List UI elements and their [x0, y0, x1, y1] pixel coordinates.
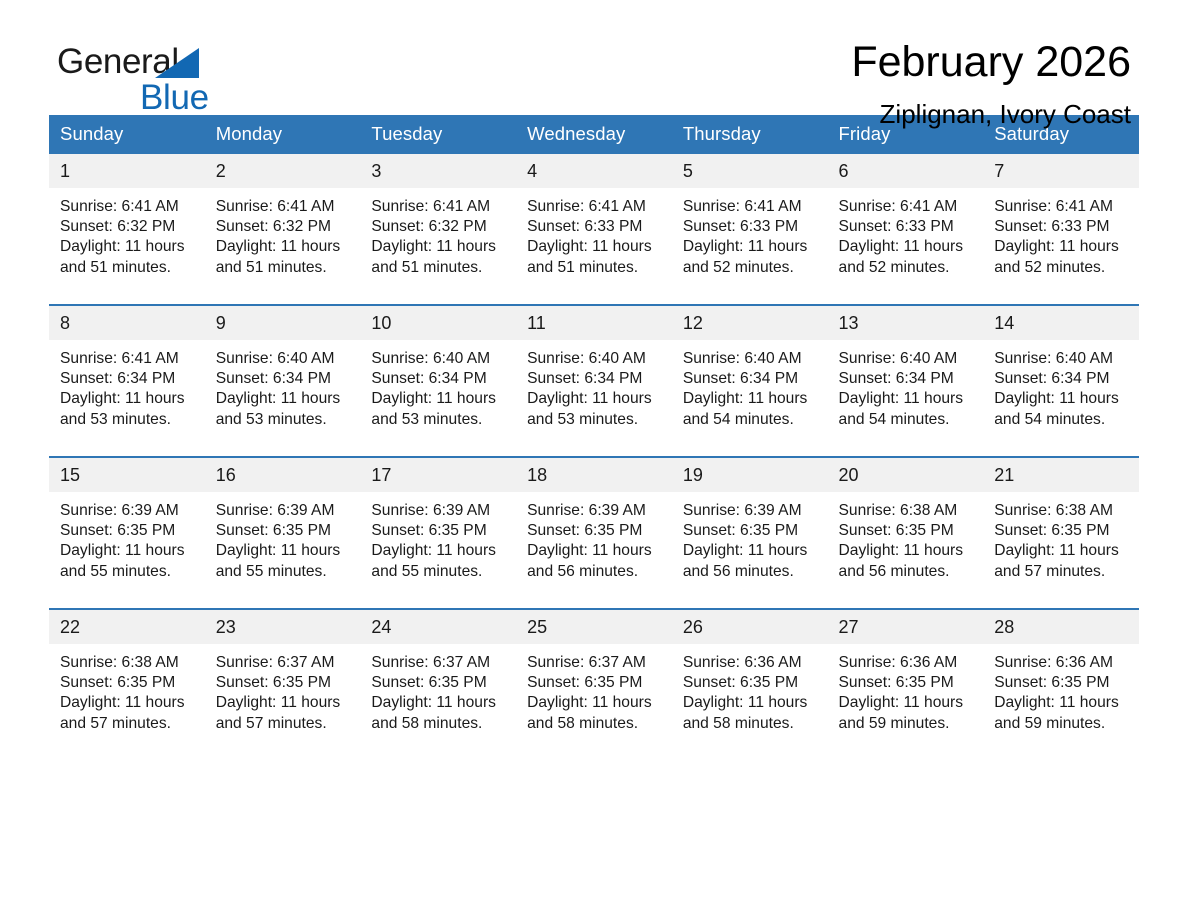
brand-name-general: General	[57, 42, 357, 82]
day-number: 3	[360, 154, 516, 188]
day-info: Sunrise: 6:40 AM Sunset: 6:34 PM Dayligh…	[205, 340, 361, 430]
day-info: Sunrise: 6:37 AM Sunset: 6:35 PM Dayligh…	[516, 644, 672, 734]
day-info: Sunrise: 6:39 AM Sunset: 6:35 PM Dayligh…	[516, 492, 672, 582]
sunrise-text: Sunrise: 6:41 AM	[60, 197, 193, 217]
daylight-text: Daylight: 11 hours and 51 minutes.	[216, 237, 349, 277]
sunset-text: Sunset: 6:35 PM	[216, 521, 349, 541]
sunset-text: Sunset: 6:35 PM	[839, 521, 972, 541]
day-number: 2	[205, 154, 361, 188]
day-number: 6	[828, 154, 984, 188]
weekday-header-monday: Monday	[205, 115, 361, 154]
sunset-text: Sunset: 6:35 PM	[683, 521, 816, 541]
day-number: 20	[828, 458, 984, 492]
day-number: 25	[516, 610, 672, 644]
sunset-text: Sunset: 6:35 PM	[994, 521, 1127, 541]
sunrise-text: Sunrise: 6:41 AM	[371, 197, 504, 217]
calendar-page: General Blue February 2026 Ziplignan, Iv…	[0, 0, 1188, 918]
sunset-text: Sunset: 6:35 PM	[371, 521, 504, 541]
sunset-text: Sunset: 6:35 PM	[371, 673, 504, 693]
sunrise-text: Sunrise: 6:38 AM	[994, 501, 1127, 521]
daylight-text: Daylight: 11 hours and 58 minutes.	[371, 693, 504, 733]
daylight-text: Daylight: 11 hours and 59 minutes.	[994, 693, 1127, 733]
sunrise-text: Sunrise: 6:37 AM	[527, 653, 660, 673]
sunset-text: Sunset: 6:35 PM	[60, 673, 193, 693]
day-number: 8	[49, 306, 205, 340]
sunset-text: Sunset: 6:35 PM	[527, 521, 660, 541]
day-number: 22	[49, 610, 205, 644]
day-cell[interactable]: 25 Sunrise: 6:37 AM Sunset: 6:35 PM Dayl…	[516, 609, 672, 760]
day-info: Sunrise: 6:41 AM Sunset: 6:32 PM Dayligh…	[360, 188, 516, 278]
sunrise-text: Sunrise: 6:38 AM	[60, 653, 193, 673]
day-number: 5	[672, 154, 828, 188]
day-number: 28	[983, 610, 1139, 644]
sunset-text: Sunset: 6:34 PM	[527, 369, 660, 389]
sunrise-text: Sunrise: 6:41 AM	[527, 197, 660, 217]
sunset-text: Sunset: 6:32 PM	[216, 217, 349, 237]
day-cell[interactable]: 22 Sunrise: 6:38 AM Sunset: 6:35 PM Dayl…	[49, 609, 205, 760]
day-info: Sunrise: 6:39 AM Sunset: 6:35 PM Dayligh…	[672, 492, 828, 582]
day-cell[interactable]: 2 Sunrise: 6:41 AM Sunset: 6:32 PM Dayli…	[205, 154, 361, 305]
sunrise-text: Sunrise: 6:40 AM	[371, 349, 504, 369]
day-cell[interactable]: 26 Sunrise: 6:36 AM Sunset: 6:35 PM Dayl…	[672, 609, 828, 760]
daylight-text: Daylight: 11 hours and 58 minutes.	[527, 693, 660, 733]
daylight-text: Daylight: 11 hours and 57 minutes.	[994, 541, 1127, 581]
day-cell[interactable]: 24 Sunrise: 6:37 AM Sunset: 6:35 PM Dayl…	[360, 609, 516, 760]
week-row: 15 Sunrise: 6:39 AM Sunset: 6:35 PM Dayl…	[49, 457, 1139, 609]
day-number: 12	[672, 306, 828, 340]
day-number: 17	[360, 458, 516, 492]
sunset-text: Sunset: 6:35 PM	[527, 673, 660, 693]
day-info: Sunrise: 6:41 AM Sunset: 6:33 PM Dayligh…	[983, 188, 1139, 278]
sunset-text: Sunset: 6:35 PM	[994, 673, 1127, 693]
day-cell[interactable]: 23 Sunrise: 6:37 AM Sunset: 6:35 PM Dayl…	[205, 609, 361, 760]
sunrise-text: Sunrise: 6:37 AM	[216, 653, 349, 673]
day-cell[interactable]: 5 Sunrise: 6:41 AM Sunset: 6:33 PM Dayli…	[672, 154, 828, 305]
sunrise-text: Sunrise: 6:41 AM	[683, 197, 816, 217]
daylight-text: Daylight: 11 hours and 52 minutes.	[683, 237, 816, 277]
day-info: Sunrise: 6:41 AM Sunset: 6:34 PM Dayligh…	[49, 340, 205, 430]
weekday-header-tuesday: Tuesday	[360, 115, 516, 154]
day-info: Sunrise: 6:41 AM Sunset: 6:33 PM Dayligh…	[672, 188, 828, 278]
day-info: Sunrise: 6:36 AM Sunset: 6:35 PM Dayligh…	[828, 644, 984, 734]
triangle-icon	[155, 48, 199, 78]
day-cell[interactable]: 4 Sunrise: 6:41 AM Sunset: 6:33 PM Dayli…	[516, 154, 672, 305]
sunset-text: Sunset: 6:34 PM	[839, 369, 972, 389]
sunrise-text: Sunrise: 6:39 AM	[683, 501, 816, 521]
day-number: 24	[360, 610, 516, 644]
sunrise-text: Sunrise: 6:40 AM	[527, 349, 660, 369]
sunset-text: Sunset: 6:35 PM	[839, 673, 972, 693]
daylight-text: Daylight: 11 hours and 55 minutes.	[60, 541, 193, 581]
day-number: 27	[828, 610, 984, 644]
sunrise-text: Sunrise: 6:39 AM	[216, 501, 349, 521]
day-info: Sunrise: 6:40 AM Sunset: 6:34 PM Dayligh…	[516, 340, 672, 430]
sunrise-text: Sunrise: 6:41 AM	[839, 197, 972, 217]
sunset-text: Sunset: 6:34 PM	[60, 369, 193, 389]
sunrise-text: Sunrise: 6:41 AM	[216, 197, 349, 217]
page-header: General Blue February 2026 Ziplignan, Iv…	[49, 0, 1139, 115]
sunrise-text: Sunrise: 6:36 AM	[839, 653, 972, 673]
day-number: 15	[49, 458, 205, 492]
sunset-text: Sunset: 6:33 PM	[994, 217, 1127, 237]
sunrise-text: Sunrise: 6:40 AM	[216, 349, 349, 369]
daylight-text: Daylight: 11 hours and 56 minutes.	[527, 541, 660, 581]
sunrise-text: Sunrise: 6:40 AM	[683, 349, 816, 369]
day-number: 7	[983, 154, 1139, 188]
daylight-text: Daylight: 11 hours and 58 minutes.	[683, 693, 816, 733]
day-number: 14	[983, 306, 1139, 340]
week-row: 8 Sunrise: 6:41 AM Sunset: 6:34 PM Dayli…	[49, 305, 1139, 457]
daylight-text: Daylight: 11 hours and 52 minutes.	[994, 237, 1127, 277]
sunrise-text: Sunrise: 6:40 AM	[994, 349, 1127, 369]
day-number: 1	[49, 154, 205, 188]
day-info: Sunrise: 6:41 AM Sunset: 6:33 PM Dayligh…	[828, 188, 984, 278]
day-info: Sunrise: 6:40 AM Sunset: 6:34 PM Dayligh…	[983, 340, 1139, 430]
day-number: 26	[672, 610, 828, 644]
brand-logo[interactable]: General Blue	[57, 42, 357, 120]
day-cell[interactable]: 10 Sunrise: 6:40 AM Sunset: 6:34 PM Dayl…	[360, 305, 516, 457]
day-cell[interactable]: 17 Sunrise: 6:39 AM Sunset: 6:35 PM Dayl…	[360, 457, 516, 609]
daylight-text: Daylight: 11 hours and 53 minutes.	[216, 389, 349, 429]
sunrise-text: Sunrise: 6:39 AM	[371, 501, 504, 521]
day-info: Sunrise: 6:38 AM Sunset: 6:35 PM Dayligh…	[828, 492, 984, 582]
day-info: Sunrise: 6:40 AM Sunset: 6:34 PM Dayligh…	[360, 340, 516, 430]
brand-name-blue: Blue	[140, 78, 209, 118]
daylight-text: Daylight: 11 hours and 53 minutes.	[527, 389, 660, 429]
day-info: Sunrise: 6:37 AM Sunset: 6:35 PM Dayligh…	[205, 644, 361, 734]
title-block: February 2026 Ziplignan, Ivory Coast	[851, 36, 1131, 131]
sunrise-text: Sunrise: 6:39 AM	[60, 501, 193, 521]
day-cell[interactable]: 3 Sunrise: 6:41 AM Sunset: 6:32 PM Dayli…	[360, 154, 516, 305]
daylight-text: Daylight: 11 hours and 53 minutes.	[60, 389, 193, 429]
day-cell[interactable]: 6 Sunrise: 6:41 AM Sunset: 6:33 PM Dayli…	[828, 154, 984, 305]
daylight-text: Daylight: 11 hours and 54 minutes.	[839, 389, 972, 429]
day-cell[interactable]: 27 Sunrise: 6:36 AM Sunset: 6:35 PM Dayl…	[828, 609, 984, 760]
day-cell[interactable]: 1 Sunrise: 6:41 AM Sunset: 6:32 PM Dayli…	[49, 154, 205, 305]
sunset-text: Sunset: 6:34 PM	[994, 369, 1127, 389]
sunset-text: Sunset: 6:32 PM	[371, 217, 504, 237]
sunrise-text: Sunrise: 6:40 AM	[839, 349, 972, 369]
day-cell[interactable]: 12 Sunrise: 6:40 AM Sunset: 6:34 PM Dayl…	[672, 305, 828, 457]
day-info: Sunrise: 6:38 AM Sunset: 6:35 PM Dayligh…	[983, 492, 1139, 582]
day-number: 21	[983, 458, 1139, 492]
day-number: 10	[360, 306, 516, 340]
day-info: Sunrise: 6:41 AM Sunset: 6:33 PM Dayligh…	[516, 188, 672, 278]
page-title: February 2026	[851, 36, 1131, 88]
day-cell[interactable]: 16 Sunrise: 6:39 AM Sunset: 6:35 PM Dayl…	[205, 457, 361, 609]
daylight-text: Daylight: 11 hours and 56 minutes.	[683, 541, 816, 581]
calendar-body: 1 Sunrise: 6:41 AM Sunset: 6:32 PM Dayli…	[49, 154, 1139, 760]
sunset-text: Sunset: 6:33 PM	[527, 217, 660, 237]
sunrise-text: Sunrise: 6:36 AM	[994, 653, 1127, 673]
day-number: 9	[205, 306, 361, 340]
day-number: 11	[516, 306, 672, 340]
day-cell[interactable]: 21 Sunrise: 6:38 AM Sunset: 6:35 PM Dayl…	[983, 457, 1139, 609]
sunrise-sunset-calendar: Sunday Monday Tuesday Wednesday Thursday…	[49, 115, 1139, 760]
sunset-text: Sunset: 6:33 PM	[839, 217, 972, 237]
daylight-text: Daylight: 11 hours and 54 minutes.	[683, 389, 816, 429]
day-info: Sunrise: 6:39 AM Sunset: 6:35 PM Dayligh…	[49, 492, 205, 582]
sunrise-text: Sunrise: 6:37 AM	[371, 653, 504, 673]
daylight-text: Daylight: 11 hours and 51 minutes.	[60, 237, 193, 277]
sunset-text: Sunset: 6:34 PM	[683, 369, 816, 389]
day-cell[interactable]: 11 Sunrise: 6:40 AM Sunset: 6:34 PM Dayl…	[516, 305, 672, 457]
sunset-text: Sunset: 6:34 PM	[216, 369, 349, 389]
daylight-text: Daylight: 11 hours and 51 minutes.	[527, 237, 660, 277]
daylight-text: Daylight: 11 hours and 56 minutes.	[839, 541, 972, 581]
day-info: Sunrise: 6:41 AM Sunset: 6:32 PM Dayligh…	[49, 188, 205, 278]
day-info: Sunrise: 6:37 AM Sunset: 6:35 PM Dayligh…	[360, 644, 516, 734]
day-cell[interactable]: 20 Sunrise: 6:38 AM Sunset: 6:35 PM Dayl…	[828, 457, 984, 609]
day-cell[interactable]: 14 Sunrise: 6:40 AM Sunset: 6:34 PM Dayl…	[983, 305, 1139, 457]
day-info: Sunrise: 6:36 AM Sunset: 6:35 PM Dayligh…	[983, 644, 1139, 734]
sunset-text: Sunset: 6:33 PM	[683, 217, 816, 237]
day-cell[interactable]: 18 Sunrise: 6:39 AM Sunset: 6:35 PM Dayl…	[516, 457, 672, 609]
daylight-text: Daylight: 11 hours and 57 minutes.	[60, 693, 193, 733]
day-cell[interactable]: 13 Sunrise: 6:40 AM Sunset: 6:34 PM Dayl…	[828, 305, 984, 457]
location-subtitle: Ziplignan, Ivory Coast	[851, 97, 1131, 131]
daylight-text: Daylight: 11 hours and 52 minutes.	[839, 237, 972, 277]
daylight-text: Daylight: 11 hours and 57 minutes.	[216, 693, 349, 733]
sunset-text: Sunset: 6:32 PM	[60, 217, 193, 237]
sunset-text: Sunset: 6:35 PM	[683, 673, 816, 693]
sunset-text: Sunset: 6:35 PM	[216, 673, 349, 693]
day-cell[interactable]: 28 Sunrise: 6:36 AM Sunset: 6:35 PM Dayl…	[983, 609, 1139, 760]
day-info: Sunrise: 6:38 AM Sunset: 6:35 PM Dayligh…	[49, 644, 205, 734]
daylight-text: Daylight: 11 hours and 51 minutes.	[371, 237, 504, 277]
day-info: Sunrise: 6:41 AM Sunset: 6:32 PM Dayligh…	[205, 188, 361, 278]
daylight-text: Daylight: 11 hours and 54 minutes.	[994, 389, 1127, 429]
sunrise-text: Sunrise: 6:38 AM	[839, 501, 972, 521]
day-info: Sunrise: 6:36 AM Sunset: 6:35 PM Dayligh…	[672, 644, 828, 734]
day-info: Sunrise: 6:40 AM Sunset: 6:34 PM Dayligh…	[828, 340, 984, 430]
sunrise-text: Sunrise: 6:36 AM	[683, 653, 816, 673]
day-cell[interactable]: 15 Sunrise: 6:39 AM Sunset: 6:35 PM Dayl…	[49, 457, 205, 609]
day-number: 18	[516, 458, 672, 492]
daylight-text: Daylight: 11 hours and 53 minutes.	[371, 389, 504, 429]
day-cell[interactable]: 7 Sunrise: 6:41 AM Sunset: 6:33 PM Dayli…	[983, 154, 1139, 305]
sunrise-text: Sunrise: 6:39 AM	[527, 501, 660, 521]
daylight-text: Daylight: 11 hours and 59 minutes.	[839, 693, 972, 733]
week-row: 1 Sunrise: 6:41 AM Sunset: 6:32 PM Dayli…	[49, 154, 1139, 305]
day-cell[interactable]: 8 Sunrise: 6:41 AM Sunset: 6:34 PM Dayli…	[49, 305, 205, 457]
week-row: 22 Sunrise: 6:38 AM Sunset: 6:35 PM Dayl…	[49, 609, 1139, 760]
day-number: 4	[516, 154, 672, 188]
daylight-text: Daylight: 11 hours and 55 minutes.	[216, 541, 349, 581]
day-info: Sunrise: 6:39 AM Sunset: 6:35 PM Dayligh…	[360, 492, 516, 582]
day-info: Sunrise: 6:40 AM Sunset: 6:34 PM Dayligh…	[672, 340, 828, 430]
sunrise-text: Sunrise: 6:41 AM	[994, 197, 1127, 217]
day-cell[interactable]: 9 Sunrise: 6:40 AM Sunset: 6:34 PM Dayli…	[205, 305, 361, 457]
day-info: Sunrise: 6:39 AM Sunset: 6:35 PM Dayligh…	[205, 492, 361, 582]
day-number: 19	[672, 458, 828, 492]
weekday-header-wednesday: Wednesday	[516, 115, 672, 154]
day-number: 16	[205, 458, 361, 492]
day-number: 13	[828, 306, 984, 340]
sunset-text: Sunset: 6:34 PM	[371, 369, 504, 389]
day-cell[interactable]: 19 Sunrise: 6:39 AM Sunset: 6:35 PM Dayl…	[672, 457, 828, 609]
sunrise-text: Sunrise: 6:41 AM	[60, 349, 193, 369]
weekday-header-thursday: Thursday	[672, 115, 828, 154]
daylight-text: Daylight: 11 hours and 55 minutes.	[371, 541, 504, 581]
weekday-header-sunday: Sunday	[49, 115, 205, 154]
day-number: 23	[205, 610, 361, 644]
sunset-text: Sunset: 6:35 PM	[60, 521, 193, 541]
